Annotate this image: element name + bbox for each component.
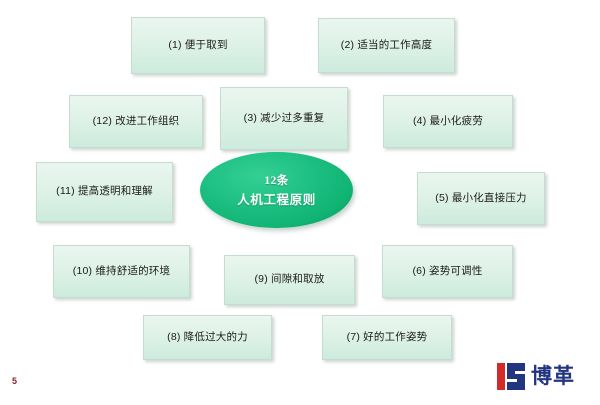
principle-box-3[interactable]: (3) 减少过多重复 <box>220 87 348 150</box>
principle-label-5: (5) 最小化直接压力 <box>435 192 526 205</box>
principle-label-7: (7) 好的工作姿势 <box>347 331 428 344</box>
principle-box-7[interactable]: (7) 好的工作姿势 <box>322 315 452 360</box>
principle-label-11: (11) 提高透明和理解 <box>56 185 153 198</box>
brand-name: 博革 <box>531 366 575 387</box>
principle-box-12[interactable]: (12) 改进工作组织 <box>69 95 203 148</box>
principle-box-9[interactable]: (9) 间隙和取放 <box>224 255 355 305</box>
principle-label-12: (12) 改进工作组织 <box>93 115 180 128</box>
principle-label-8: (8) 降低过大的力 <box>167 331 248 344</box>
page-number: 5 <box>12 376 17 386</box>
principle-label-10: (10) 维持舒适的环境 <box>73 265 171 278</box>
principle-box-5[interactable]: (5) 最小化直接压力 <box>417 172 545 225</box>
principle-box-10[interactable]: (10) 维持舒适的环境 <box>53 245 190 298</box>
principle-box-6[interactable]: (6) 姿势可调性 <box>382 245 513 298</box>
principle-label-6: (6) 姿势可调性 <box>412 265 482 278</box>
principle-label-9: (9) 间隙和取放 <box>254 273 324 286</box>
brand-logo: 博革 <box>496 362 575 391</box>
principle-box-11[interactable]: (11) 提高透明和理解 <box>36 162 173 222</box>
center-title-line-2: 人机工程原则 <box>237 189 316 208</box>
principle-label-2: (2) 适当的工作高度 <box>341 39 432 52</box>
principle-box-1[interactable]: (1) 便于取到 <box>131 17 265 74</box>
bogerui-logo-icon <box>496 362 526 391</box>
principle-label-1: (1) 便于取到 <box>168 39 227 52</box>
principle-box-4[interactable]: (4) 最小化疲劳 <box>383 95 513 148</box>
slide-canvas: (1) 便于取到 (2) 适当的工作高度 (12) 改进工作组织 (3) 减少过… <box>0 0 600 405</box>
center-ellipse[interactable]: 12条 人机工程原则 <box>200 152 353 228</box>
principle-box-8[interactable]: (8) 降低过大的力 <box>143 315 272 360</box>
center-title-line-1: 12条 <box>264 172 288 188</box>
principle-label-3: (3) 减少过多重复 <box>244 112 325 125</box>
principle-label-4: (4) 最小化疲劳 <box>413 115 483 128</box>
principle-box-2[interactable]: (2) 适当的工作高度 <box>318 18 455 73</box>
